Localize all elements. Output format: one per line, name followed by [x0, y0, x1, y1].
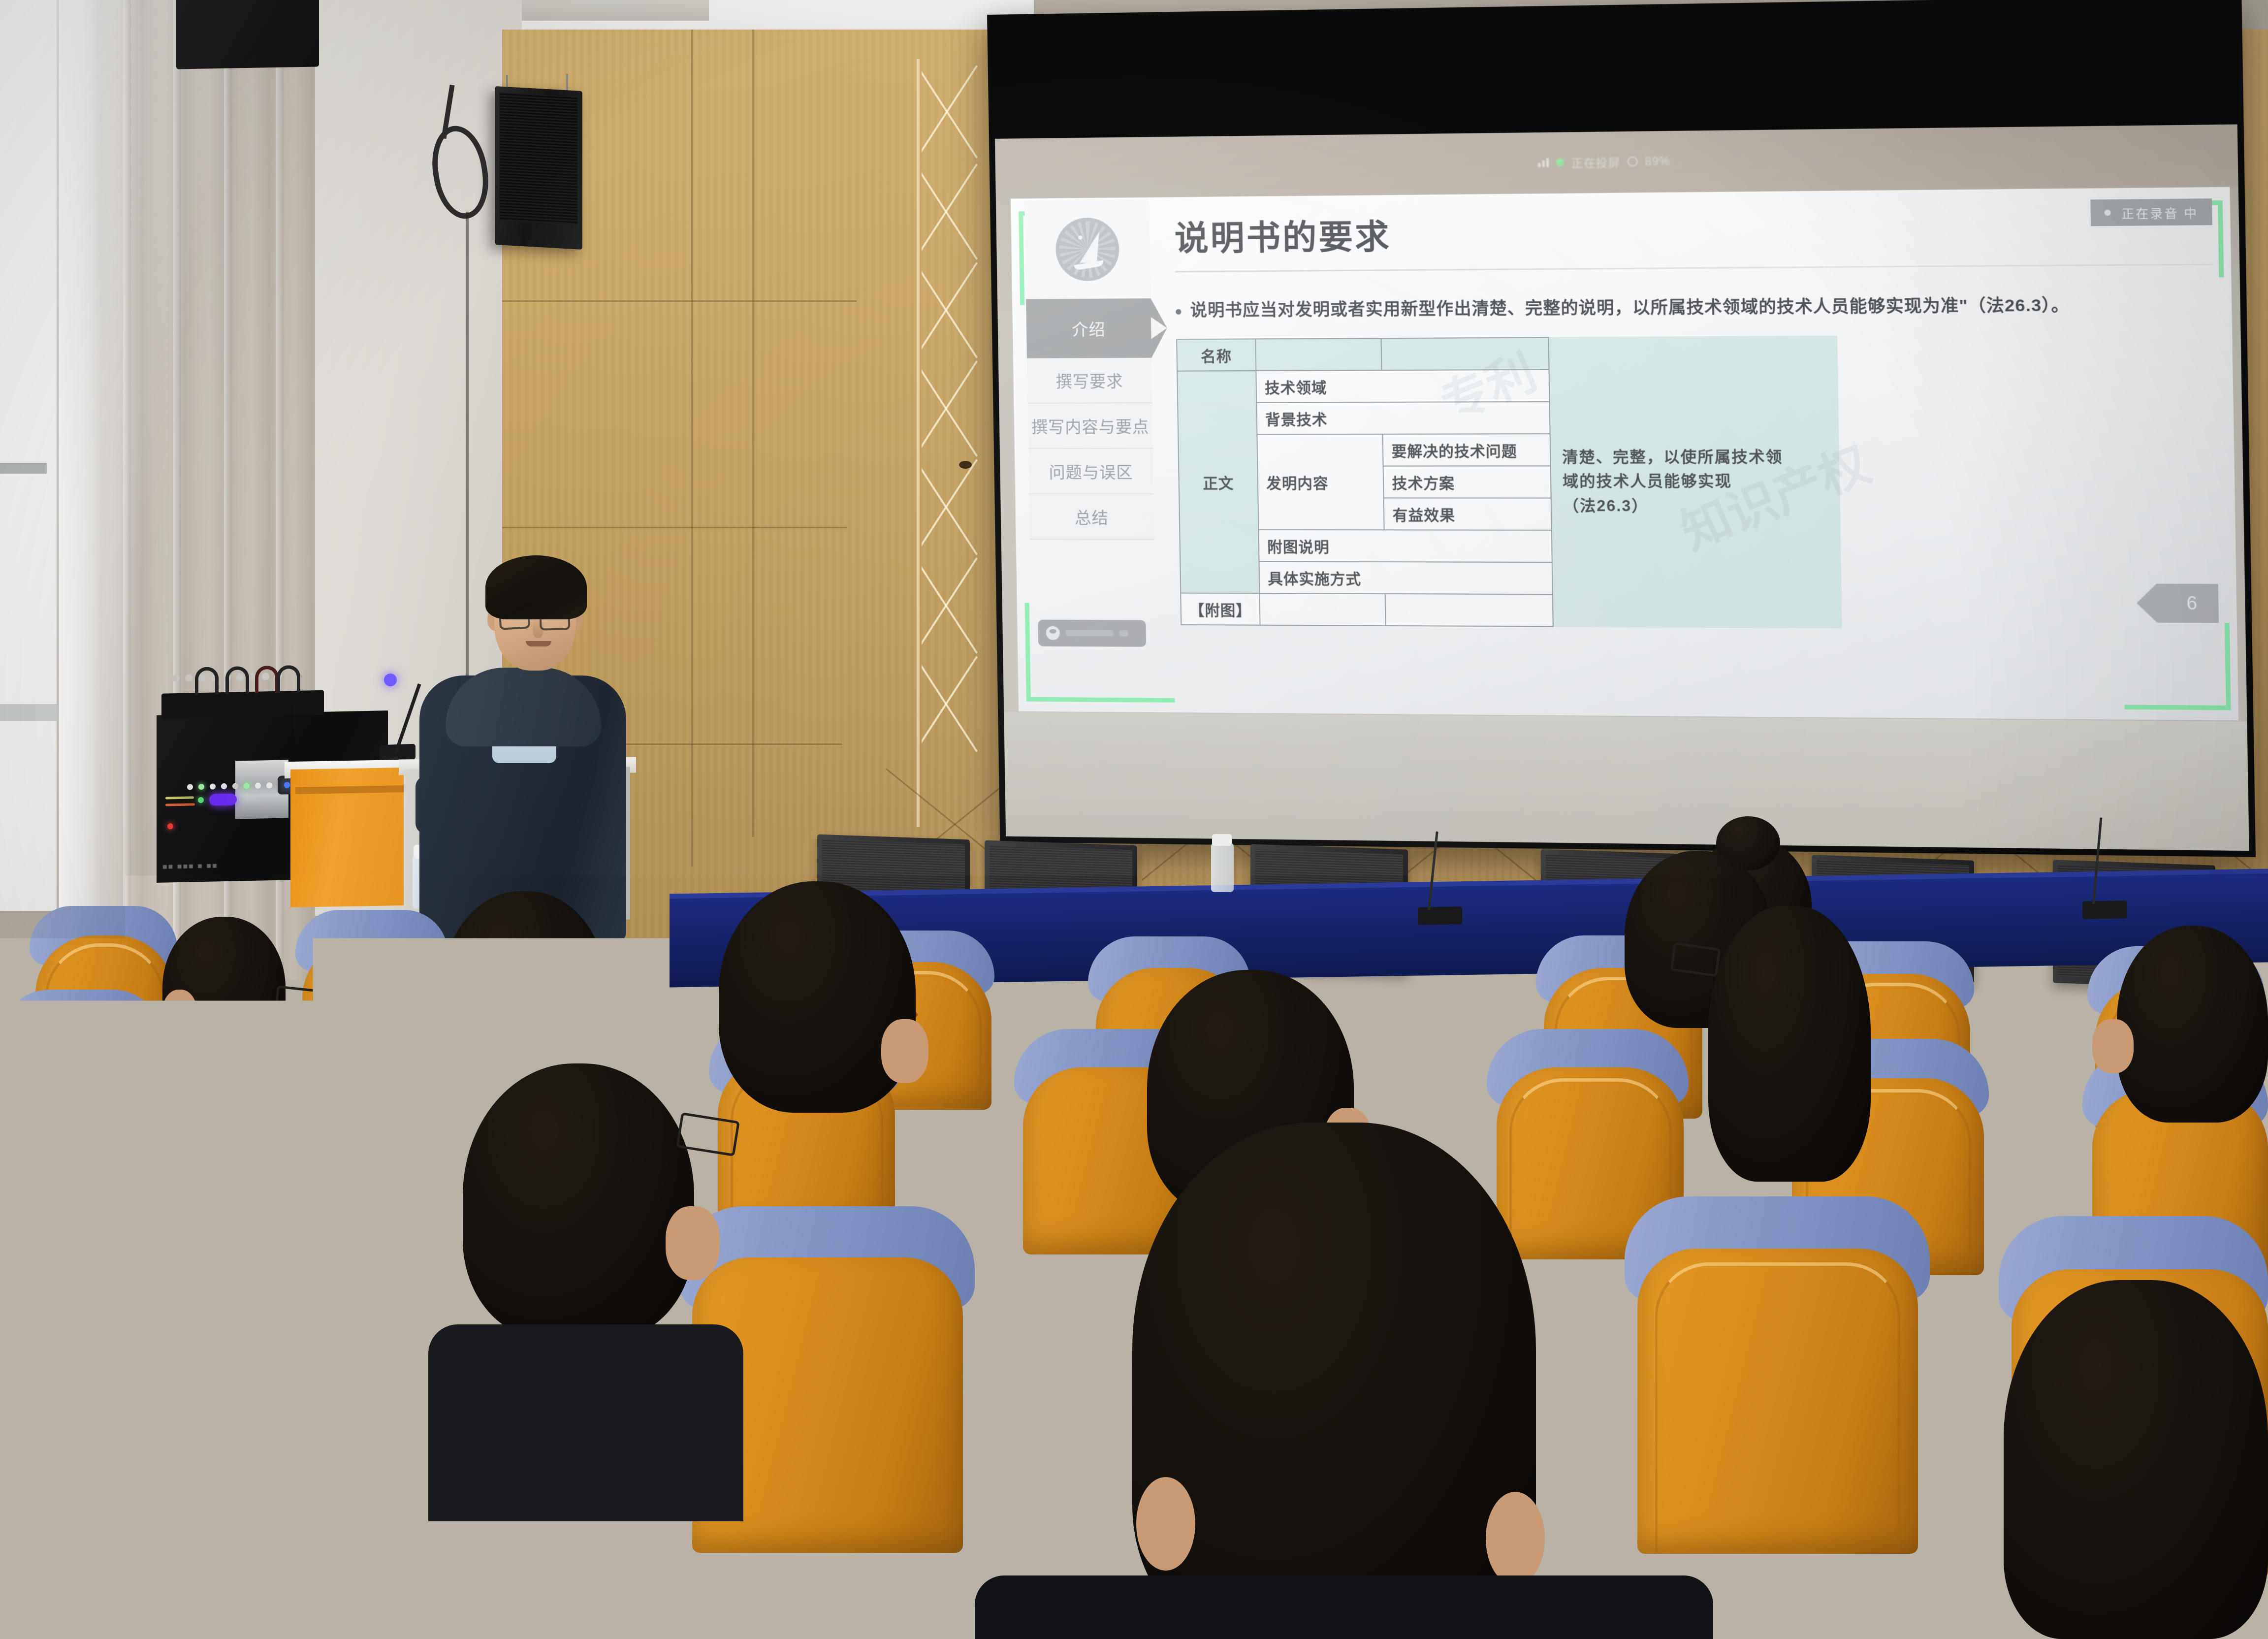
audience-head-foreground — [807, 1428, 1152, 1639]
audience-face — [162, 990, 197, 1037]
slide-body: 说明书的要求 说明书应当对发明或者实用新型作出清楚、完整的说明，以所属技术领域的… — [1174, 193, 2220, 713]
sidebar-item-label: 撰写内容与要点 — [1031, 414, 1150, 438]
audience-face — [2092, 1019, 2134, 1073]
wood-seam — [502, 527, 847, 528]
presenter-hood — [446, 668, 601, 746]
sidebar-item-issues-and-pitfalls[interactable]: 问题与误区 — [1028, 449, 1154, 495]
audience-head — [2117, 926, 2268, 1123]
audience-head-foreground — [2004, 1280, 2268, 1639]
wood-seam — [752, 30, 754, 837]
cell-invention-content: 发明内容 — [1257, 434, 1384, 530]
bottle-cap — [1212, 834, 1232, 846]
table-microphone-base — [2082, 900, 2127, 919]
projection-screen: 正在投屏 89% — [987, 0, 2256, 857]
cell-blank — [1385, 594, 1553, 626]
table-row: 名称 — [1177, 337, 1549, 371]
rack-cable-loop — [225, 666, 249, 694]
cell-blank — [1259, 593, 1385, 626]
rack-power-led — [167, 823, 173, 829]
presenter-mouth — [526, 641, 551, 646]
sidebar-item-label: 总结 — [1075, 505, 1109, 528]
slide-canvas: 正在录音 中 介绍 撰写要求 — [1011, 187, 2238, 720]
rack-amplifier — [176, 0, 319, 69]
audience-head — [463, 1063, 694, 1339]
pill-placeholder-dot — [1119, 630, 1128, 636]
user-avatar-icon — [1046, 626, 1060, 640]
projection-status-label: 正在投屏 — [1571, 153, 1620, 171]
screen-surface: 正在投屏 89% — [995, 125, 2247, 724]
sidebar-item-label: 介绍 — [1072, 317, 1106, 341]
bullet-dot-icon — [1176, 309, 1181, 315]
battery-label: 89% — [1645, 155, 1670, 168]
wood-seam — [691, 30, 693, 867]
sidebar-item-writing-requirements[interactable]: 撰写要求 — [1027, 358, 1152, 404]
presenter-hair — [485, 555, 587, 619]
cell-background-art: 背景技术 — [1256, 401, 1550, 434]
cell-body-label: 正文 — [1177, 371, 1259, 593]
spec-table-wrap: 名称 正文 技术领域 背景技术 — [1176, 333, 2219, 630]
cell-name: 名称 — [1177, 339, 1256, 371]
cell-drawings: 【附图】 — [1181, 593, 1260, 625]
audience-face — [666, 1206, 720, 1280]
spec-note-line: （法26.3） — [1563, 494, 1829, 518]
sidebar-item-content-and-points[interactable]: 撰写内容与要点 — [1027, 403, 1153, 449]
wood-highlight — [917, 59, 920, 827]
cell-embodiments: 具体实施方式 — [1259, 561, 1552, 594]
audience-head-long-hair — [1708, 906, 1871, 1182]
signal-bars-icon — [1538, 158, 1549, 167]
sidebar-item-label: 问题与误区 — [1049, 459, 1133, 483]
pill-placeholder-bar — [1066, 630, 1114, 637]
rack-cable-loop — [277, 665, 300, 693]
cell-beneficial-effects: 有益效果 — [1384, 498, 1552, 530]
account-pill[interactable] — [1038, 620, 1146, 647]
audience-head-foreground — [1132, 1123, 1536, 1639]
audience-ear — [1486, 1492, 1545, 1585]
sidebar-item-label: 撰写要求 — [1055, 368, 1123, 392]
sailboat-emblem-icon — [1055, 218, 1120, 281]
audience-glasses — [275, 985, 321, 1014]
slide-bullet: 说明书应当对发明或者实用新型作出清楚、完整的说明，以所属技术领域的技术人员能够实… — [1176, 289, 2214, 325]
table-row: 【附图】 — [1181, 593, 1553, 626]
audience-head — [719, 881, 916, 1113]
lecture-hall-photo: 正在投屏 89% — [0, 0, 2268, 1639]
rack-cable-loop — [255, 666, 279, 694]
rack-led-row-2 — [198, 794, 237, 806]
sidebar-item-summary[interactable]: 总结 — [1029, 494, 1154, 540]
rack-label: ■■ ■■■ ■ ■■ — [162, 862, 218, 871]
window-frame-upper — [0, 463, 47, 474]
rack-meter-led — [165, 803, 195, 806]
slide-title: 说明书的要求 — [1174, 193, 2213, 260]
rack-cable-loop — [195, 667, 219, 695]
spec-note-line: 清楚、完整，以使所属技术领 — [1562, 445, 1828, 470]
screen-masking-top — [990, 0, 2239, 142]
sidebar-item-intro[interactable]: 介绍 — [1026, 298, 1151, 358]
curtain-light-edge — [59, 0, 133, 980]
audience-shoulders — [428, 1324, 743, 1521]
slide-bullet-text: 说明书应当对发明或者实用新型作出清楚、完整的说明，以所属技术领域的技术人员能够实… — [1190, 290, 2070, 325]
audience-head-foreground — [335, 1521, 640, 1639]
table-row: 正文 技术领域 — [1177, 369, 1549, 402]
wall-speaker — [495, 86, 582, 250]
cell-technical-solution: 技术方案 — [1383, 466, 1551, 498]
rack-top-unit — [161, 690, 324, 718]
seat-rim — [312, 947, 435, 1072]
table-microphone-base — [1418, 906, 1462, 925]
spec-table: 名称 正文 技术领域 背景技术 — [1176, 337, 1554, 627]
cell-technical-field: 技术领域 — [1256, 369, 1549, 402]
rack-led-row — [187, 775, 296, 797]
audience-ear — [256, 1521, 315, 1610]
title-divider — [1175, 263, 2213, 272]
wood-seam — [502, 300, 857, 302]
curtain-fold — [123, 0, 131, 980]
podium-mic-head-icon — [384, 674, 397, 686]
water-bottle — [1211, 843, 1234, 892]
spec-note: 清楚、完整，以使所属技术领 域的技术人员能够实现 （法26.3） — [1549, 335, 1842, 628]
cell-drawing-description: 附图说明 — [1258, 529, 1552, 562]
logo-cell — [1024, 199, 1150, 299]
seat-rim — [1655, 1262, 1900, 1554]
cell-blank — [1255, 338, 1381, 371]
speaker-grille-icon — [500, 93, 577, 225]
screen-lower-area — [1004, 712, 2249, 851]
green-dot-icon — [1556, 158, 1564, 166]
cell-problem-to-solve: 要解决的技术问题 — [1383, 434, 1551, 466]
slide-page-badge: 6 — [2156, 584, 2219, 623]
clock-icon — [1628, 157, 1638, 167]
rack-meter-led — [165, 796, 194, 799]
cell-blank — [1381, 337, 1549, 370]
audience-face — [881, 1019, 928, 1083]
audience-glasses — [574, 1005, 628, 1042]
spec-note-line: 域的技术人员能够实现 — [1563, 470, 1829, 494]
slide-sidebar: 介绍 撰写要求 撰写内容与要点 问题与误区 总结 — [1024, 199, 1157, 706]
